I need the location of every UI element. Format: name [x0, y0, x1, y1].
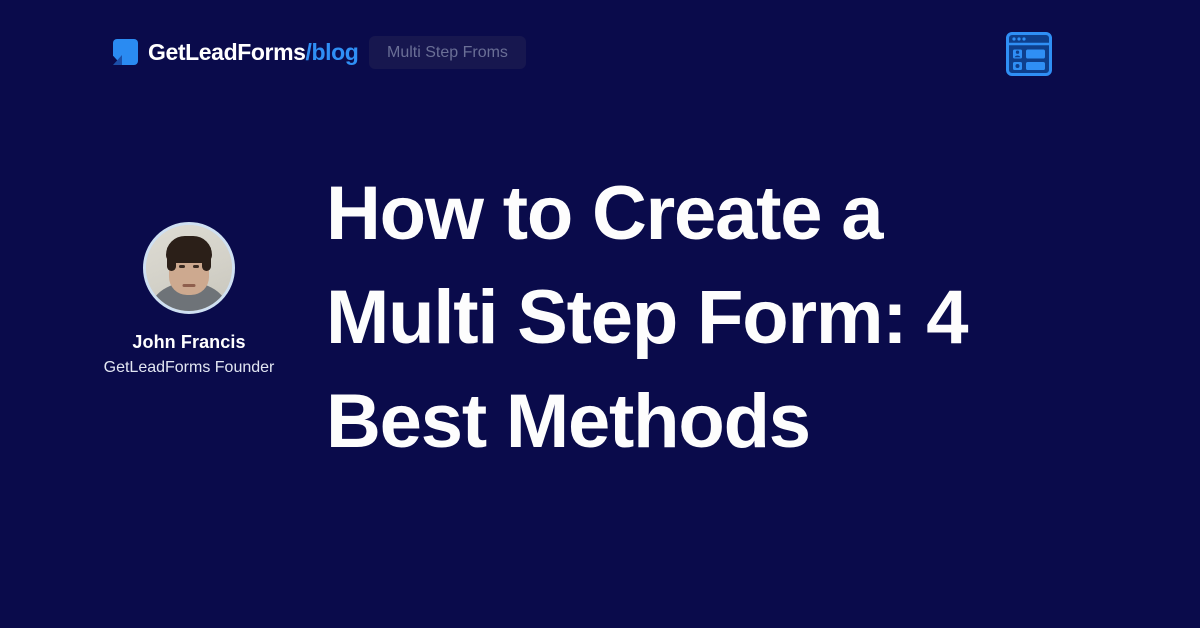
brand-name: GetLeadForms — [148, 39, 306, 65]
form-window-icon — [1005, 31, 1053, 77]
avatar — [143, 222, 235, 314]
page-title-line: How to Create a — [326, 171, 882, 256]
page-title: How to Create a Multi Step Form: 4 Best … — [326, 162, 1056, 474]
article-share-card: GetLeadForms/blog Multi Step Froms — [0, 0, 1200, 628]
category-tag-label: Multi Step Froms — [387, 45, 508, 61]
brand-section: blog — [312, 39, 359, 65]
author-name: John Francis — [132, 332, 245, 354]
brand-logo[interactable]: GetLeadForms/blog — [113, 36, 358, 68]
author-role: GetLeadForms Founder — [104, 358, 275, 377]
brand-wordmark: GetLeadForms/blog — [148, 41, 358, 64]
form-sheet-logo-icon — [113, 39, 138, 65]
page-title-line: Best Methods — [326, 379, 810, 464]
author-block: John Francis GetLeadForms Founder — [74, 222, 304, 377]
header-bar: GetLeadForms/blog Multi Step Froms — [0, 0, 1200, 105]
category-tag[interactable]: Multi Step Froms — [369, 36, 526, 69]
page-title-line: Multi Step Form: 4 — [326, 275, 967, 360]
